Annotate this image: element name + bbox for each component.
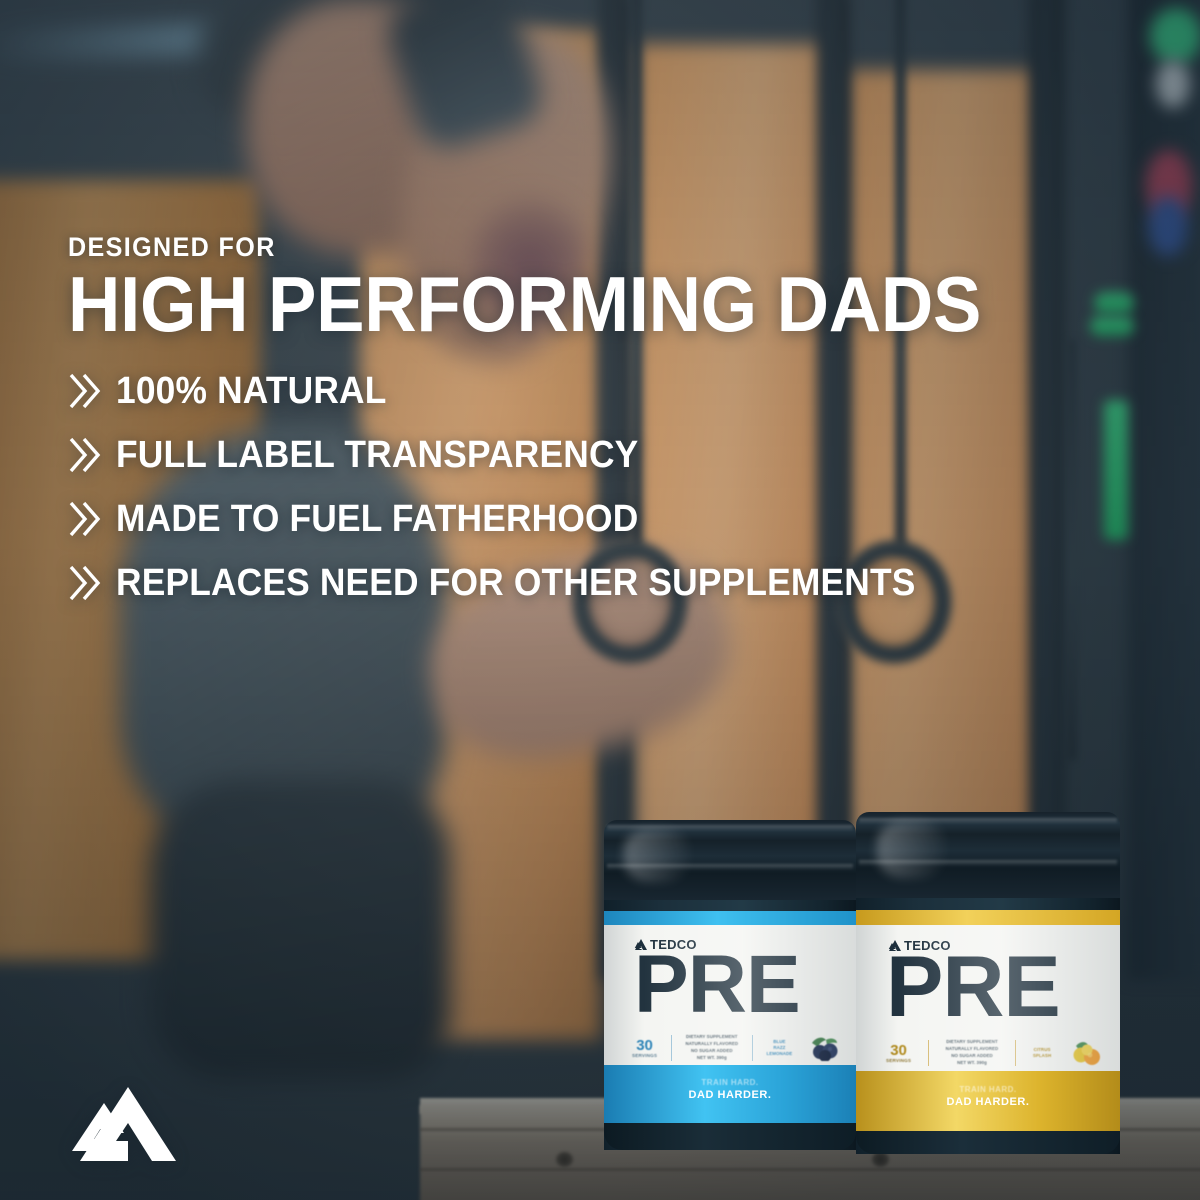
fine-print-line: NO SUGAR ADDED <box>946 1053 999 1060</box>
label-facts-row: 30 SERVINGS DIETARY SUPPLEMENT NATURALLY… <box>886 1040 1104 1066</box>
tagline-block: TRAIN HARD. DAD HARDER. <box>856 1085 1120 1108</box>
tagline-line2: DAD HARDER. <box>856 1096 1120 1108</box>
facts-divider <box>752 1035 753 1061</box>
eyebrow-text: DESIGNED FOR <box>68 232 952 263</box>
benefit-label: 100% NATURAL <box>116 370 386 413</box>
brand-name: TEDCO <box>904 938 951 953</box>
fine-print-line: NATURALLY FLAVORED <box>946 1046 999 1053</box>
promo-poster: DESIGNED FOR HIGH PERFORMING DADS 100% N… <box>0 0 1200 1200</box>
tagline-block: TRAIN HARD. DAD HARDER. <box>604 1078 856 1101</box>
double-chevron-icon <box>68 371 102 411</box>
tub-base <box>604 1123 856 1150</box>
flavor-line: BLUE <box>766 1039 792 1045</box>
mountain-peaks-icon <box>634 939 647 950</box>
facts-divider <box>671 1035 672 1061</box>
benefit-item-fatherhood: MADE TO FUEL FATHERHOOD <box>68 487 1018 551</box>
tagline-line1: TRAIN HARD. <box>604 1078 856 1087</box>
brand-lockup: TEDCO <box>634 937 697 952</box>
facts-divider <box>928 1040 929 1066</box>
servings-block: 30 SERVINGS <box>632 1038 657 1059</box>
double-chevron-icon <box>68 499 102 539</box>
product-tub-blueberry[interactable]: TEDCO PRE 30 SERVINGS DIETARY SUPPLEMENT… <box>604 820 856 1150</box>
servings-count: 30 <box>632 1038 657 1053</box>
facts-divider <box>1015 1040 1016 1066</box>
tub-body: TEDCO PRE 30 SERVINGS DIETARY SUPPLEMENT… <box>856 898 1120 1154</box>
fine-print-line: NET WT. 390g <box>685 1055 738 1062</box>
servings-count: 30 <box>886 1043 911 1058</box>
fine-print-line: NET WT. 390g <box>946 1060 999 1067</box>
benefit-label: FULL LABEL TRANSPARENCY <box>116 434 638 477</box>
label-bottom-stripe: TRAIN HARD. DAD HARDER. <box>604 1065 856 1123</box>
benefit-label: MADE TO FUEL FATHERHOOD <box>116 498 638 541</box>
flavor-line: RAZZ <box>766 1045 792 1051</box>
fine-print-block: DIETARY SUPPLEMENT NATURALLY FLAVORED NO… <box>685 1034 738 1061</box>
servings-label: SERVINGS <box>886 1059 911 1064</box>
label-top-stripe <box>856 910 1120 925</box>
lid-highlight <box>877 821 946 878</box>
benefit-label: REPLACES NEED FOR OTHER SUPPLEMENTS <box>116 562 915 605</box>
brand-lockup: TEDCO <box>888 938 951 953</box>
label-bottom-stripe: TRAIN HARD. DAD HARDER. <box>856 1071 1120 1131</box>
flavor-line: SPLASH <box>1033 1053 1051 1059</box>
tub-base <box>856 1131 1120 1154</box>
product-label: TEDCO PRE 30 SERVINGS DIETARY SUPPLEMENT… <box>856 925 1120 1071</box>
fine-print-line: DIETARY SUPPLEMENT <box>946 1039 999 1046</box>
double-chevron-icon <box>68 435 102 475</box>
tub-lid <box>856 812 1120 904</box>
flavor-line: CITRUS <box>1033 1047 1051 1053</box>
benefits-list: 100% NATURAL FULL LABEL TRANSPARENCY MAD… <box>68 359 1018 615</box>
label-facts-row: 30 SERVINGS DIETARY SUPPLEMENT NATURALLY… <box>632 1035 842 1061</box>
mountain-peaks-icon <box>888 940 901 951</box>
benefit-item-transparency: FULL LABEL TRANSPARENCY <box>68 423 1018 487</box>
benefit-item-supplements: REPLACES NEED FOR OTHER SUPPLEMENTS <box>68 551 1018 615</box>
page-title: HIGH PERFORMING DADS <box>68 267 952 341</box>
double-chevron-icon <box>68 563 102 603</box>
product-tub-citrus[interactable]: TEDCO PRE 30 SERVINGS DIETARY SUPPLEMENT… <box>856 812 1120 1154</box>
tub-body: TEDCO PRE 30 SERVINGS DIETARY SUPPLEMENT… <box>604 900 856 1150</box>
lid-highlight <box>624 829 690 882</box>
label-top-stripe <box>604 911 856 925</box>
product-label: TEDCO PRE 30 SERVINGS DIETARY SUPPLEMENT… <box>604 925 856 1065</box>
blueberries-icon <box>806 1035 842 1061</box>
flavor-block: CITRUS SPLASH <box>1033 1047 1051 1059</box>
fine-print-line: NATURALLY FLAVORED <box>685 1041 738 1048</box>
fine-print-block: DIETARY SUPPLEMENT NATURALLY FLAVORED NO… <box>946 1039 999 1066</box>
fine-print-line: DIETARY SUPPLEMENT <box>685 1034 738 1041</box>
copy-block: DESIGNED FOR HIGH PERFORMING DADS 100% N… <box>68 232 1018 615</box>
servings-block: 30 SERVINGS <box>886 1043 911 1064</box>
servings-label: SERVINGS <box>632 1054 657 1059</box>
tagline-line2: DAD HARDER. <box>604 1089 856 1101</box>
product-name: PRE <box>634 951 800 1018</box>
benefit-item-natural: 100% NATURAL <box>68 359 1018 423</box>
tagline-line1: TRAIN HARD. <box>856 1085 1120 1094</box>
citrus-fruit-icon <box>1068 1040 1104 1066</box>
flavor-block: BLUE RAZZ LEMONADE <box>766 1039 792 1057</box>
brand-name: TEDCO <box>650 937 697 952</box>
tub-lid <box>604 820 856 906</box>
fine-print-line: NO SUGAR ADDED <box>685 1048 738 1055</box>
product-name: PRE <box>886 952 1060 1023</box>
mountain-peaks-logo <box>66 1085 178 1163</box>
flavor-line: LEMONADE <box>766 1051 792 1057</box>
